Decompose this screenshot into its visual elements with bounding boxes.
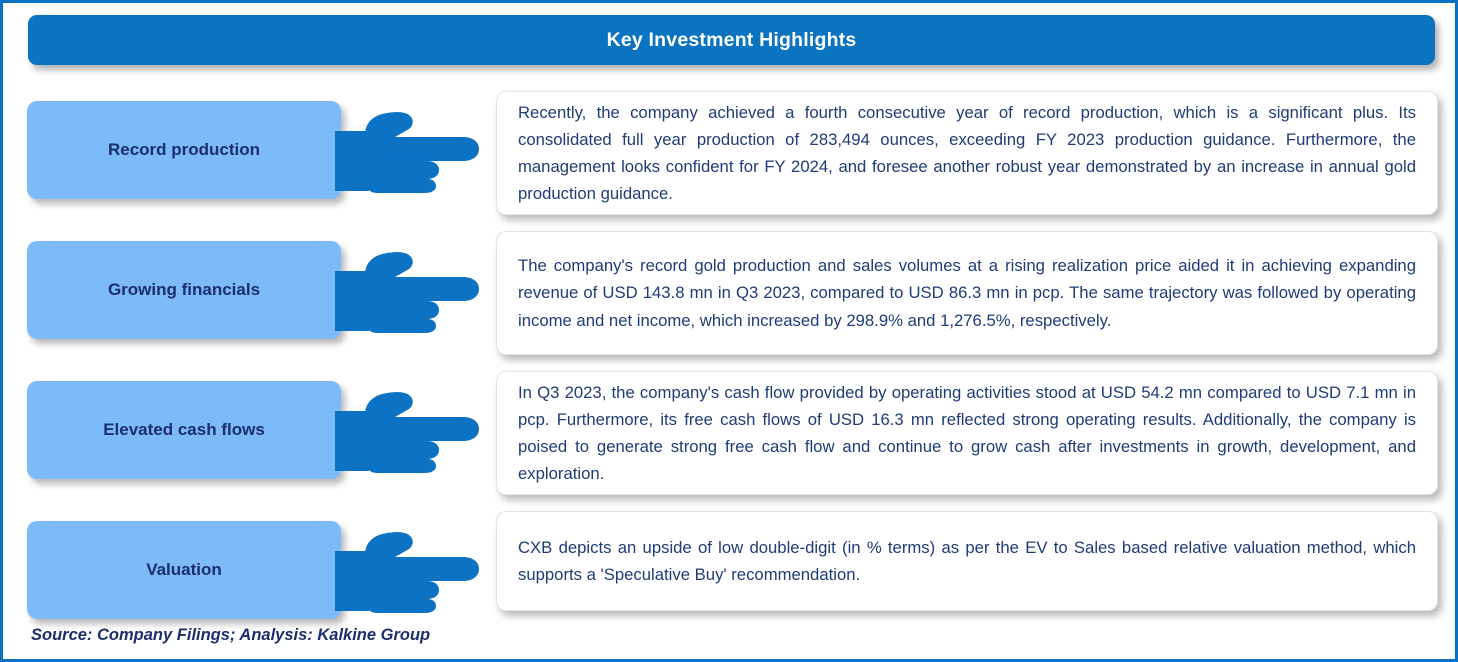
highlight-label-text: Record production [108, 140, 260, 160]
highlight-label-text: Elevated cash flows [103, 420, 265, 440]
highlight-label-record-production: Record production [27, 101, 341, 199]
pointing-hand-right-icon [335, 519, 487, 623]
highlight-label-text: Growing financials [108, 280, 260, 300]
source-note: Source: Company Filings; Analysis: Kalki… [31, 626, 430, 645]
highlight-card-text: In Q3 2023, the company's cash flow prov… [497, 379, 1437, 487]
highlight-card-text: Recently, the company achieved a fourth … [497, 99, 1437, 207]
highlight-label-growing-financials: Growing financials [27, 241, 341, 339]
highlight-label-text: Valuation [146, 560, 222, 580]
highlight-card: Recently, the company achieved a fourth … [496, 91, 1438, 215]
highlight-row: Growing financials The company's record … [3, 229, 1458, 369]
highlight-row: Record production Recently, the company … [3, 89, 1458, 229]
highlight-card: CXB depicts an upside of low double-digi… [496, 511, 1438, 611]
highlight-card-text: CXB depicts an upside of low double-digi… [497, 534, 1437, 588]
highlight-label-valuation: Valuation [27, 521, 341, 619]
highlight-row: Elevated cash flows In Q3 2023, the comp… [3, 369, 1458, 509]
highlight-card-text: The company's record gold production and… [497, 252, 1437, 333]
page-title: Key Investment Highlights [607, 29, 857, 52]
pointing-hand-right-icon [335, 99, 487, 203]
highlight-card: The company's record gold production and… [496, 231, 1438, 355]
pointing-hand-right-icon [335, 239, 487, 343]
highlight-label-elevated-cash-flows: Elevated cash flows [27, 381, 341, 479]
pointing-hand-right-icon [335, 379, 487, 483]
key-investment-highlights-infographic: Key Investment Highlights Record product… [0, 0, 1458, 662]
highlights-rows: Record production Recently, the company … [3, 89, 1458, 649]
header-banner: Key Investment Highlights [28, 15, 1435, 65]
highlight-card: In Q3 2023, the company's cash flow prov… [496, 371, 1438, 495]
